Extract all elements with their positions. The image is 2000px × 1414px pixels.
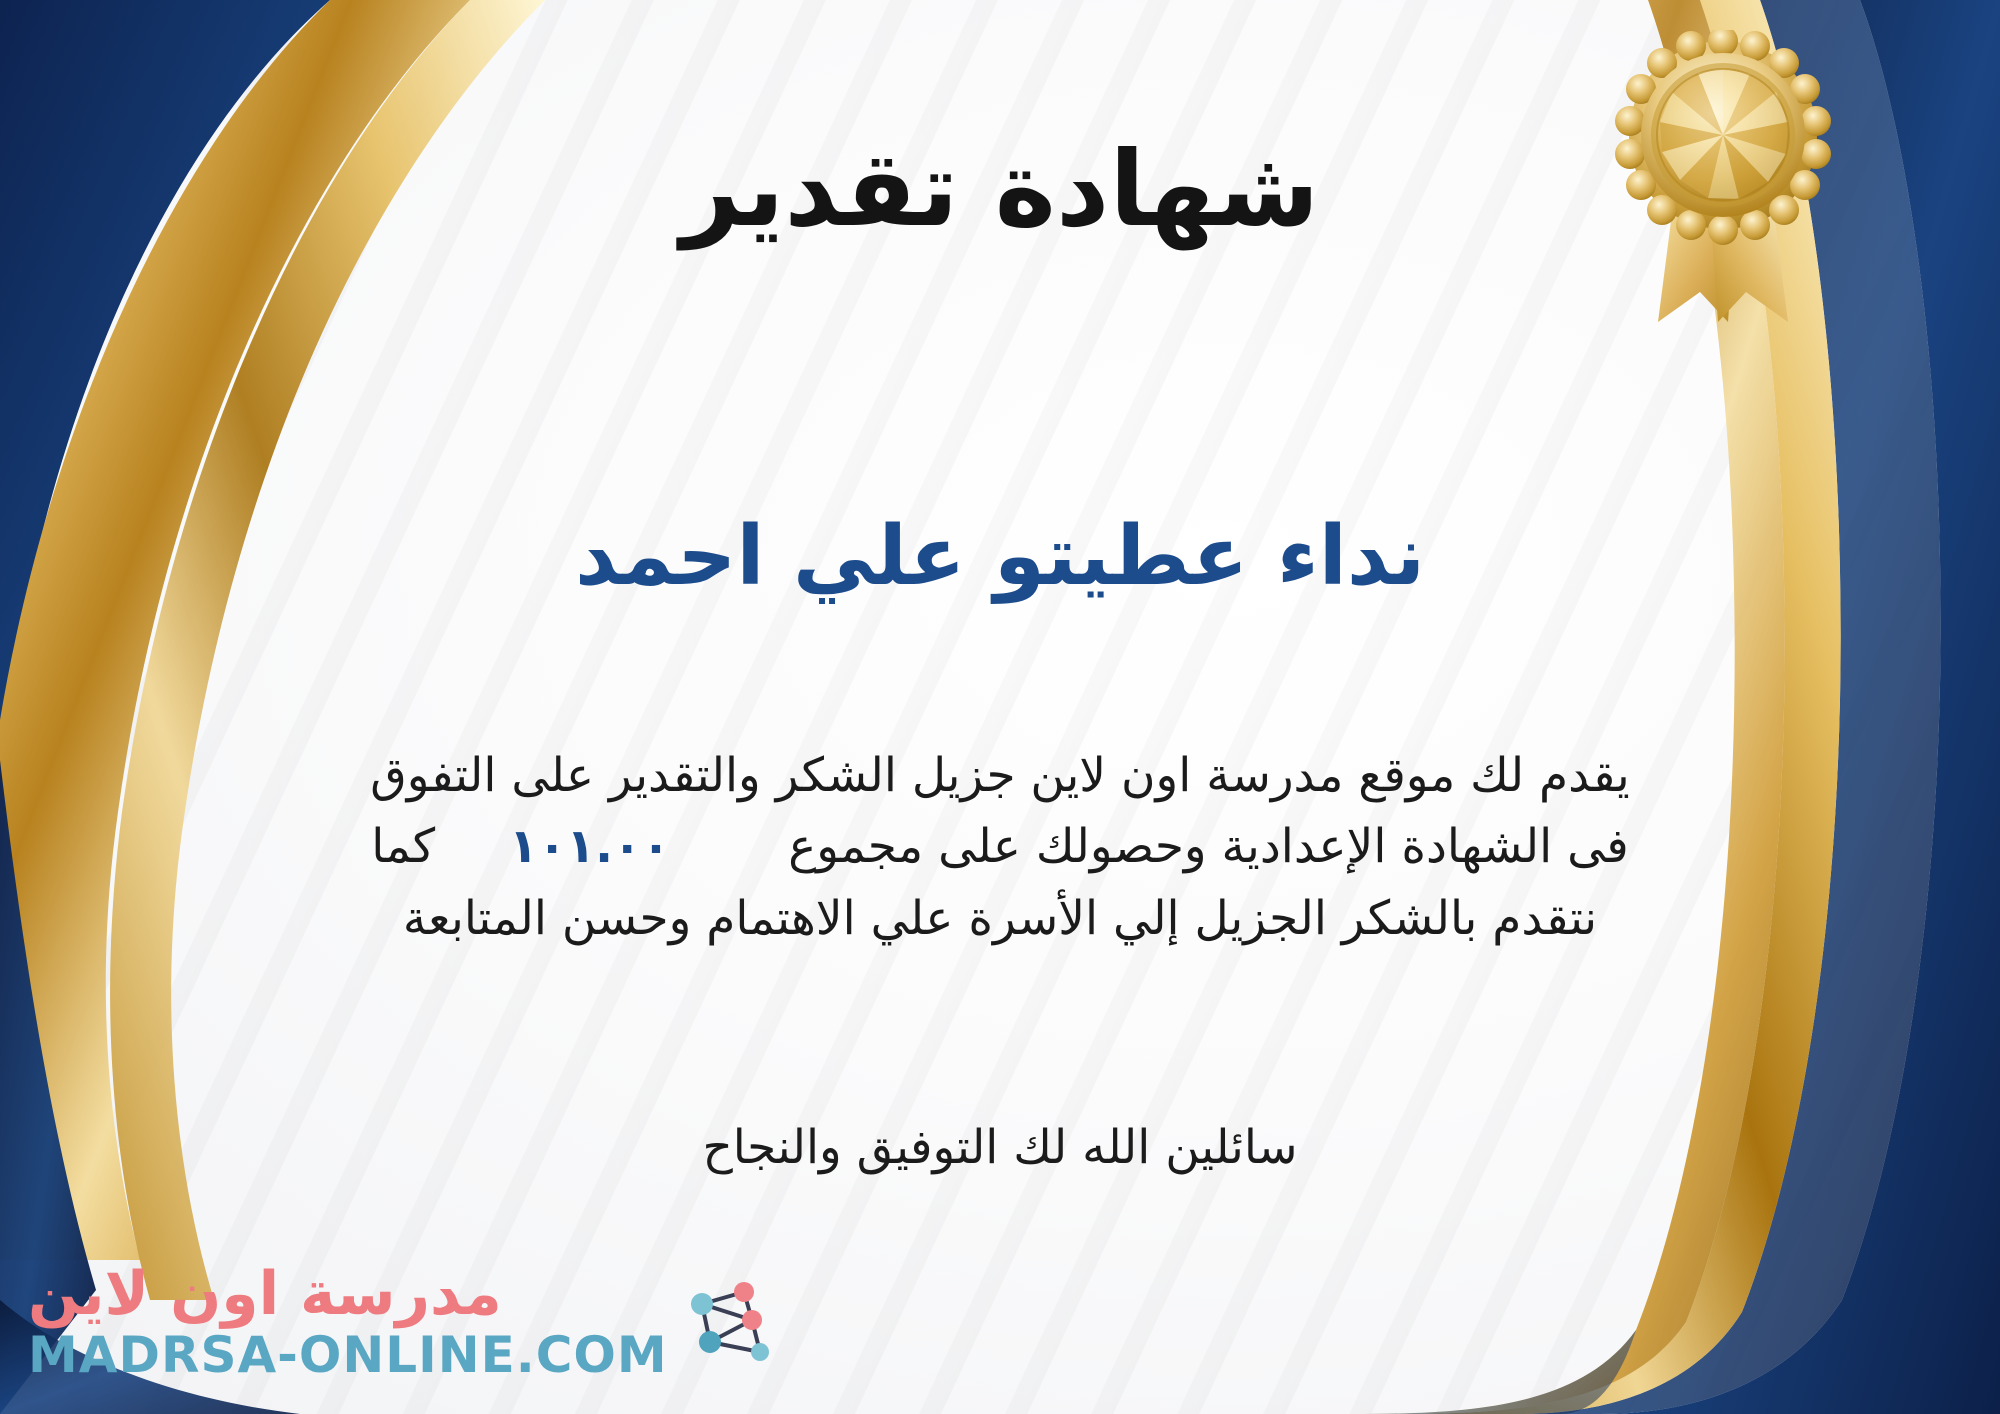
brand-arabic-name: مدرسة اون لاين [28,1264,502,1324]
certificate-title: شهادة تقدير [0,132,2000,246]
body-line-3: نتقدم بالشكر الجزيل إلي الأسرة علي الاهت… [60,883,1940,954]
brand-website: MADRSA-ONLINE.COM [28,1330,668,1380]
certificate-page: شهادة تقدير نداء عطيتو علي احمد يقدم لك … [0,0,2000,1414]
certificate-body: يقدم لك موقع مدرسة اون لاين جزيل الشكر و… [60,740,1940,954]
body-line-2: فى الشهادة الإعدادية وحصولك على مجموع ١٠… [60,811,1940,882]
network-nodes-icon [682,1274,778,1370]
grade-value: ١٠١.٠٠ [499,811,680,882]
closing-text: سائلين الله لك التوفيق والنجاح [0,1120,2000,1175]
body-line-2-suffix: كما [371,819,435,874]
brand-logo[interactable]: مدرسة اون لاين MADRSA-ONLINE.COM [28,1264,778,1380]
recipient-name: نداء عطيتو علي احمد [0,510,2000,604]
brand-text: مدرسة اون لاين MADRSA-ONLINE.COM [28,1264,668,1380]
body-line-1: يقدم لك موقع مدرسة اون لاين جزيل الشكر و… [60,740,1940,811]
body-line-2-prefix: فى الشهادة الإعدادية وحصولك على مجموع [788,819,1629,874]
